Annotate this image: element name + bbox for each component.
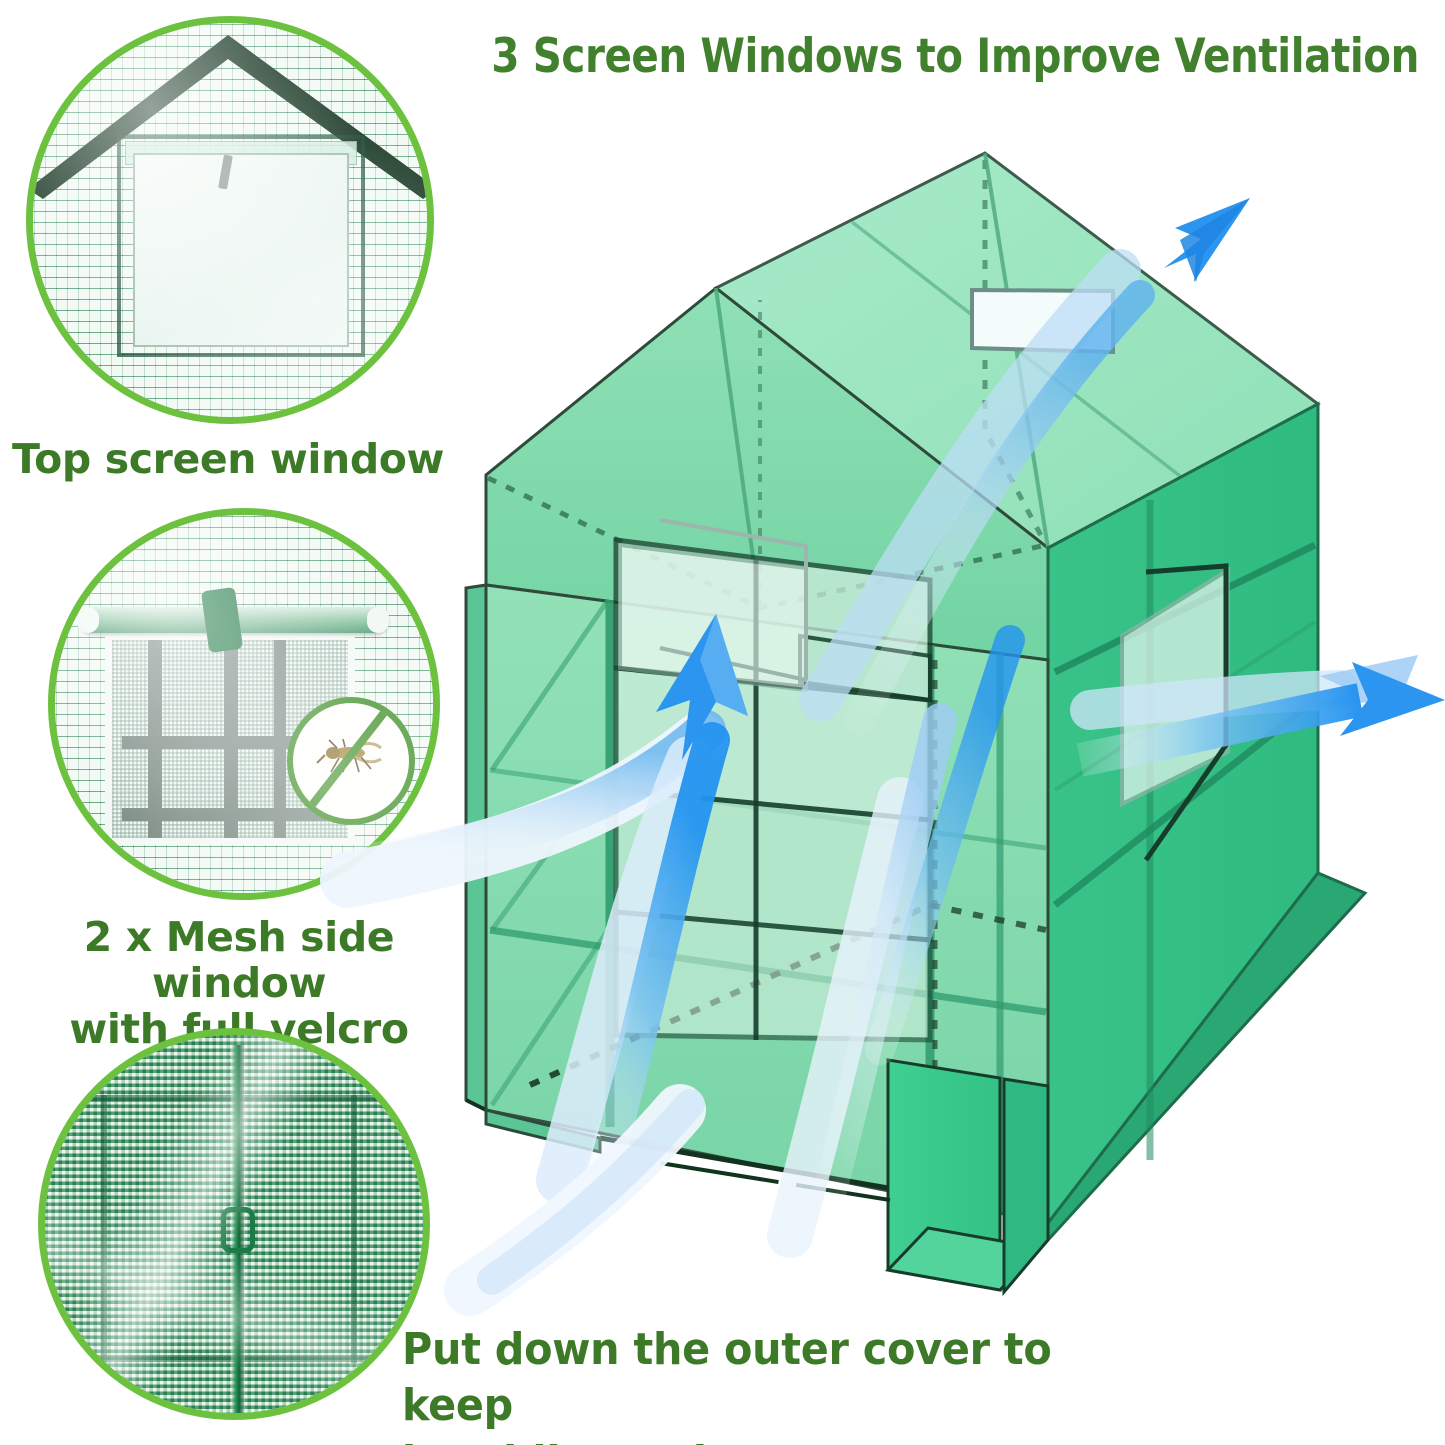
- photo-sheen: [55, 515, 433, 893]
- photo-sheen: [45, 1035, 423, 1413]
- right-screen-window: [1122, 566, 1228, 860]
- top-screen-window-photo: [26, 16, 434, 424]
- caption-outer-cover: Put down the outer cover to keep humidit…: [402, 1322, 1145, 1445]
- greenhouse-right-wall: [1048, 404, 1365, 1240]
- greenhouse-front-wall: [466, 585, 1048, 1223]
- airflow-arrow-right-out: [1080, 655, 1445, 760]
- roof-screen-window: [972, 290, 1113, 352]
- mesh-side-window-photo: [48, 508, 440, 900]
- airflow-arrow-roof-out: [820, 198, 1250, 720]
- caption-line-1: Put down the outer cover to keep: [402, 1322, 1145, 1435]
- photo-sheen: [33, 23, 427, 417]
- airflow-arrow-interior-riser: [790, 640, 1010, 1235]
- caption-line-1: 2 x Mesh side window: [0, 915, 478, 1007]
- greenhouse-interior-shelves: [616, 540, 930, 1040]
- greenhouse-door-flaps: [466, 1060, 1048, 1292]
- caption-top-screen-window: Top screen window: [12, 437, 472, 483]
- caption-line-2: humidity and temperature inside: [402, 1435, 1145, 1445]
- infographic-page: 3 Screen Windows to Improve Ventilation …: [0, 0, 1445, 1445]
- outer-cover-photo: [38, 1028, 430, 1420]
- airflow-arrow-in-bottom: [470, 1104, 690, 1290]
- front-screen-window: [620, 520, 806, 690]
- greenhouse-roof: [486, 153, 1318, 660]
- page-title: 3 Screen Windows to Improve Ventilation: [491, 32, 1368, 81]
- airflow-arrow-front-up: [560, 614, 748, 1200]
